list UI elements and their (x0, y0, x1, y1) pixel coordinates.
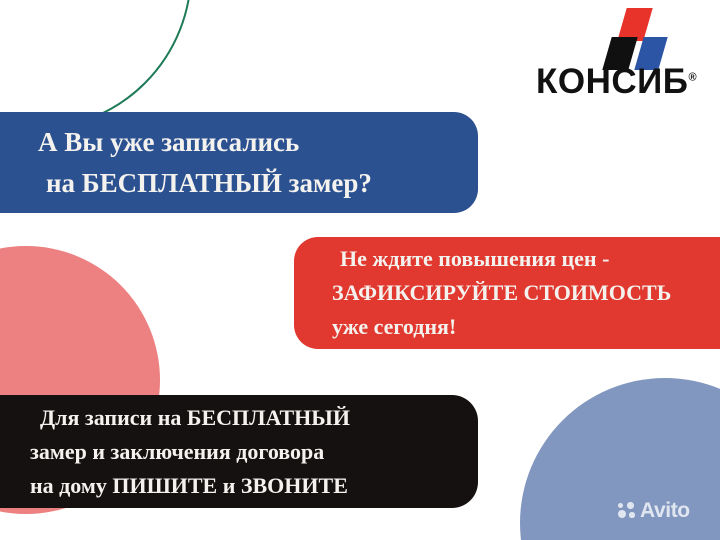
brand-wordmark: КОНСИБ® (536, 64, 712, 99)
cta-banner-black: Для записи на БЕСПЛАТНЫЙ замер и заключе… (0, 395, 478, 508)
konsib-parallelogram-mark-icon (594, 8, 668, 70)
banner-red-line-1: Не ждите повышения цен - (332, 242, 720, 276)
banner-red-line-3: уже сегодня! (332, 310, 720, 344)
banner-black-line-2: замер и заключения договора (30, 435, 478, 469)
banner-red-line-2: ЗАФИКСИРУЙТЕ СТОИМОСТЬ (332, 276, 720, 310)
banner-blue-line-2: на БЕСПЛАТНЫЙ замер? (38, 163, 478, 204)
promo-poster: КОНСИБ® А Вы уже записались на БЕСПЛАТНЫ… (0, 0, 720, 540)
brand-logo: КОНСИБ® (536, 8, 712, 104)
banner-black-line-3: на дому ПИШИТЕ и ЗВОНИТЕ (30, 469, 478, 503)
avito-watermark: Avito (618, 500, 690, 521)
brand-wordmark-text: КОНСИБ (536, 62, 688, 101)
message-banner-red: Не ждите повышения цен - ЗАФИКСИРУЙТЕ СТ… (294, 237, 720, 349)
green-circle-outline-icon (0, 0, 192, 130)
banner-blue-line-1: А Вы уже записались (38, 122, 478, 163)
banner-black-line-1: Для записи на БЕСПЛАТНЫЙ (30, 401, 478, 435)
avito-dots-icon (618, 502, 636, 519)
headline-banner-blue: А Вы уже записались на БЕСПЛАТНЫЙ замер? (0, 112, 478, 213)
avito-watermark-label: Avito (640, 500, 690, 521)
registered-trademark-symbol: ® (688, 71, 696, 83)
